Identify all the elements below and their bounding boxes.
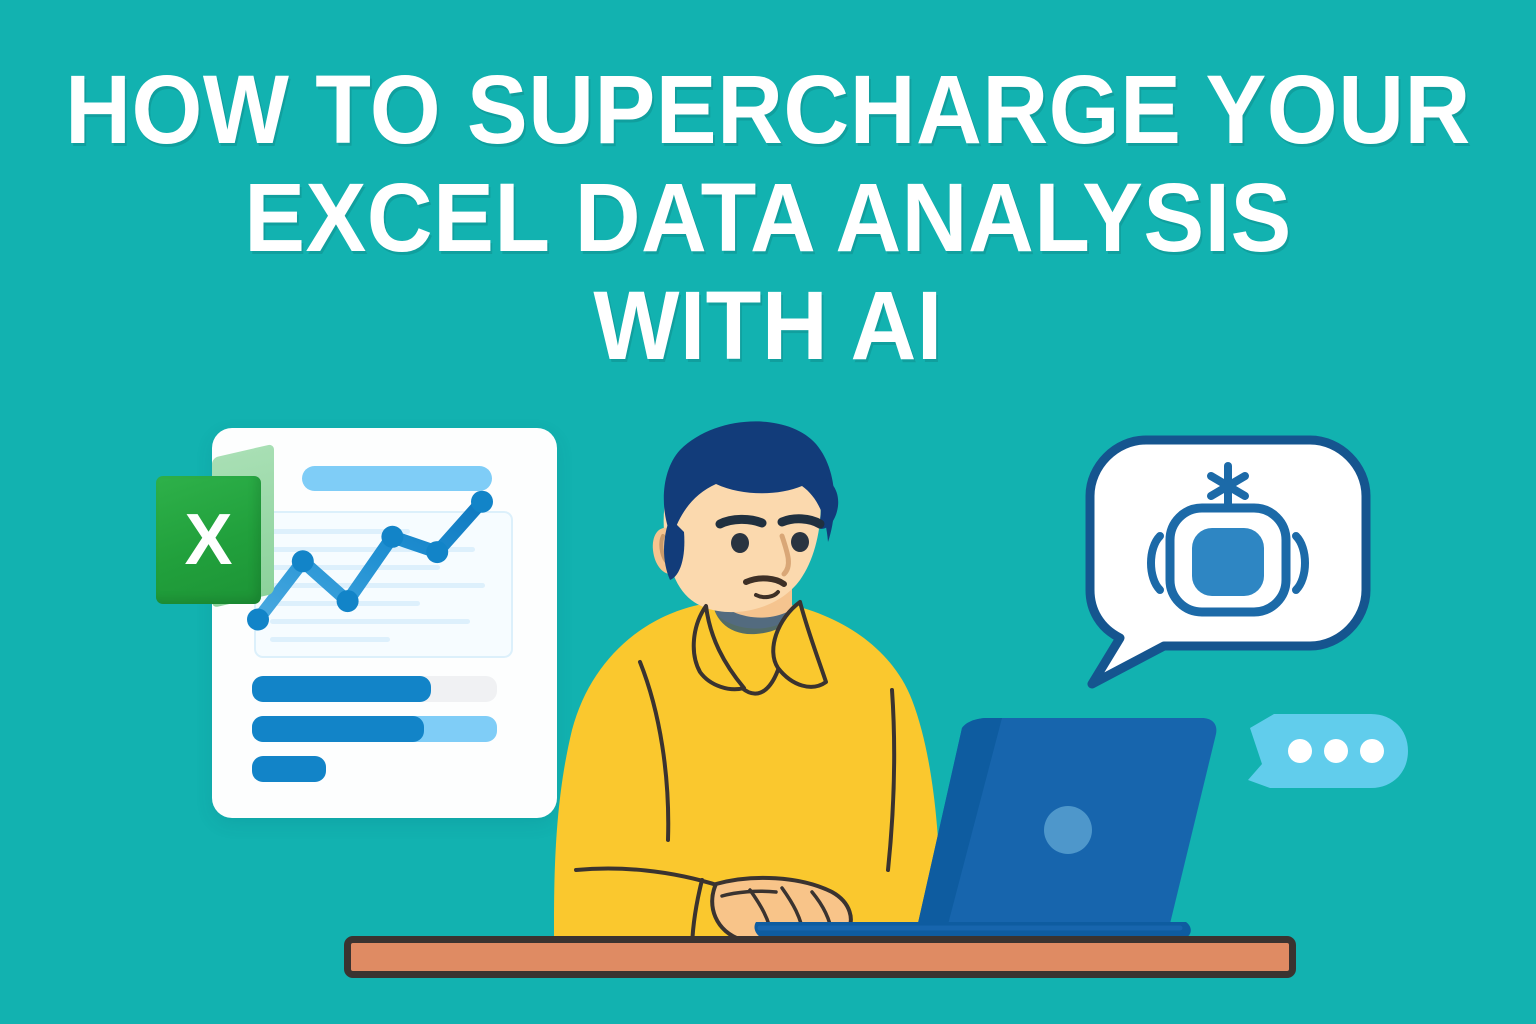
chart-point-3 — [381, 526, 403, 548]
bar-fill-1 — [252, 676, 431, 702]
chart-point-2 — [337, 590, 359, 612]
chart-line — [258, 502, 482, 620]
bar-fill-2 — [252, 716, 424, 742]
laptop — [750, 700, 1250, 950]
chart-point-4 — [426, 541, 448, 563]
bar-fill-3 — [252, 756, 326, 782]
chart-point-0 — [247, 609, 269, 631]
eyebrow-left — [720, 519, 762, 524]
ai-chat-bubble[interactable] — [1078, 432, 1378, 692]
excel-icon: X — [150, 458, 285, 608]
poster-canvas: HOW TO SUPERCHARGE YOUR EXCEL DATA ANALY… — [0, 0, 1536, 1024]
laptop-logo — [1044, 806, 1092, 854]
robot-screen — [1192, 528, 1264, 596]
typing-dot-2 — [1324, 739, 1348, 763]
excel-document-illustration: X — [150, 420, 570, 830]
typing-indicator-bubble[interactable] — [1240, 706, 1415, 796]
title-line-2: EXCEL DATA ANALYSIS — [46, 164, 1490, 272]
desk-surface — [344, 936, 1296, 978]
title-line-3: WITH AI — [46, 272, 1490, 380]
chart-point-5 — [471, 491, 493, 513]
excel-icon-front-face: X — [156, 476, 261, 604]
eyebrow-right — [782, 519, 820, 524]
eye-left — [731, 533, 749, 553]
title-line-1: HOW TO SUPERCHARGE YOUR — [46, 56, 1490, 164]
eye-right — [791, 532, 809, 552]
page-title: HOW TO SUPERCHARGE YOUR EXCEL DATA ANALY… — [0, 56, 1536, 380]
typing-dot-1 — [1288, 739, 1312, 763]
typing-dot-3 — [1360, 739, 1384, 763]
excel-icon-letter: X — [156, 476, 261, 604]
chart-point-1 — [292, 550, 314, 572]
